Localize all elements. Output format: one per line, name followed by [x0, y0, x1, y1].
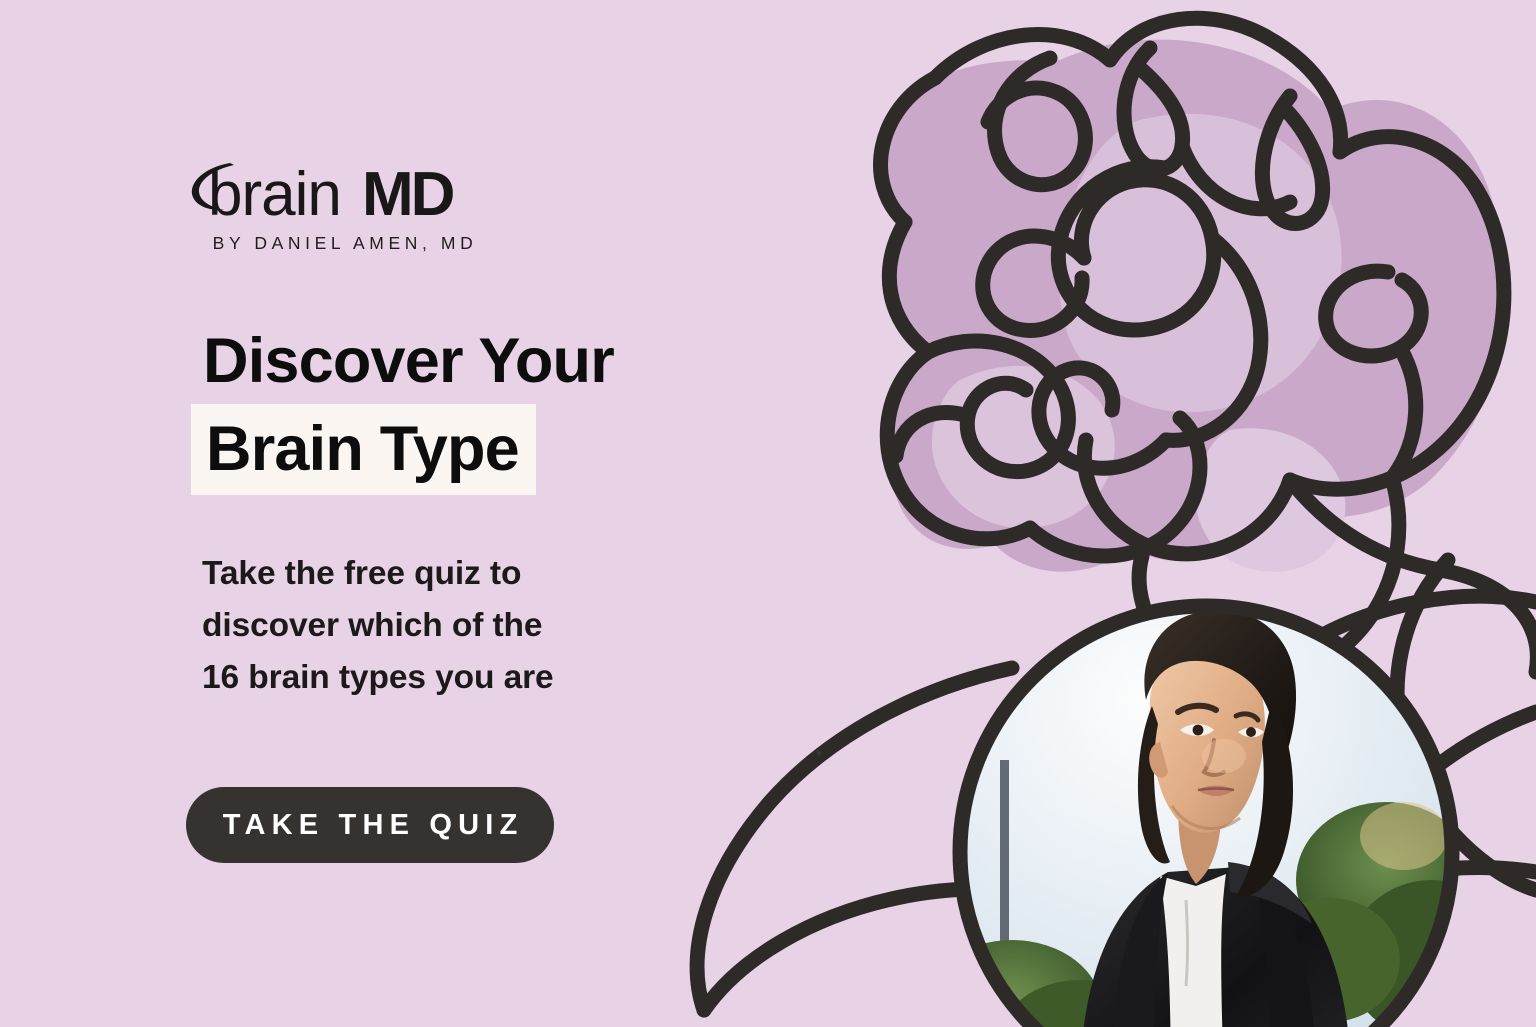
subcopy-line-2: discover which of the — [202, 600, 672, 652]
subcopy: Take the free quiz to discover which of … — [202, 548, 672, 704]
woman-portrait-circle — [922, 596, 1517, 1027]
photo-circle-outline — [960, 606, 1452, 1027]
brand-logo[interactable]: brain MD BY DANIEL AMEN, MD — [186, 157, 516, 254]
brain-squiggle-line — [697, 18, 1536, 1027]
brain-fill-shape — [880, 40, 1505, 572]
subcopy-line-3: 16 brain types you are — [202, 652, 672, 704]
brain-type-promo-banner: brain MD BY DANIEL AMEN, MD Discover You… — [0, 0, 1536, 1027]
headline-line-2-highlighted: Brain Type — [191, 404, 536, 495]
subcopy-line-1: Take the free quiz to — [202, 548, 672, 600]
decorative-speck — [816, 748, 822, 757]
svg-text:brain: brain — [208, 160, 341, 229]
brainmd-logotype: brain MD — [186, 157, 516, 229]
content-column: brain MD BY DANIEL AMEN, MD Discover You… — [186, 0, 706, 1027]
logo-wordmark: brain MD — [186, 157, 516, 229]
take-the-quiz-button[interactable]: TAKE THE QUIZ — [186, 787, 554, 863]
page-title: Discover Your Brain Type — [196, 330, 716, 495]
brand-tagline: BY DANIEL AMEN, MD — [186, 233, 504, 254]
headline-line-1: Discover Your — [203, 330, 716, 393]
svg-text:MD: MD — [362, 160, 454, 229]
